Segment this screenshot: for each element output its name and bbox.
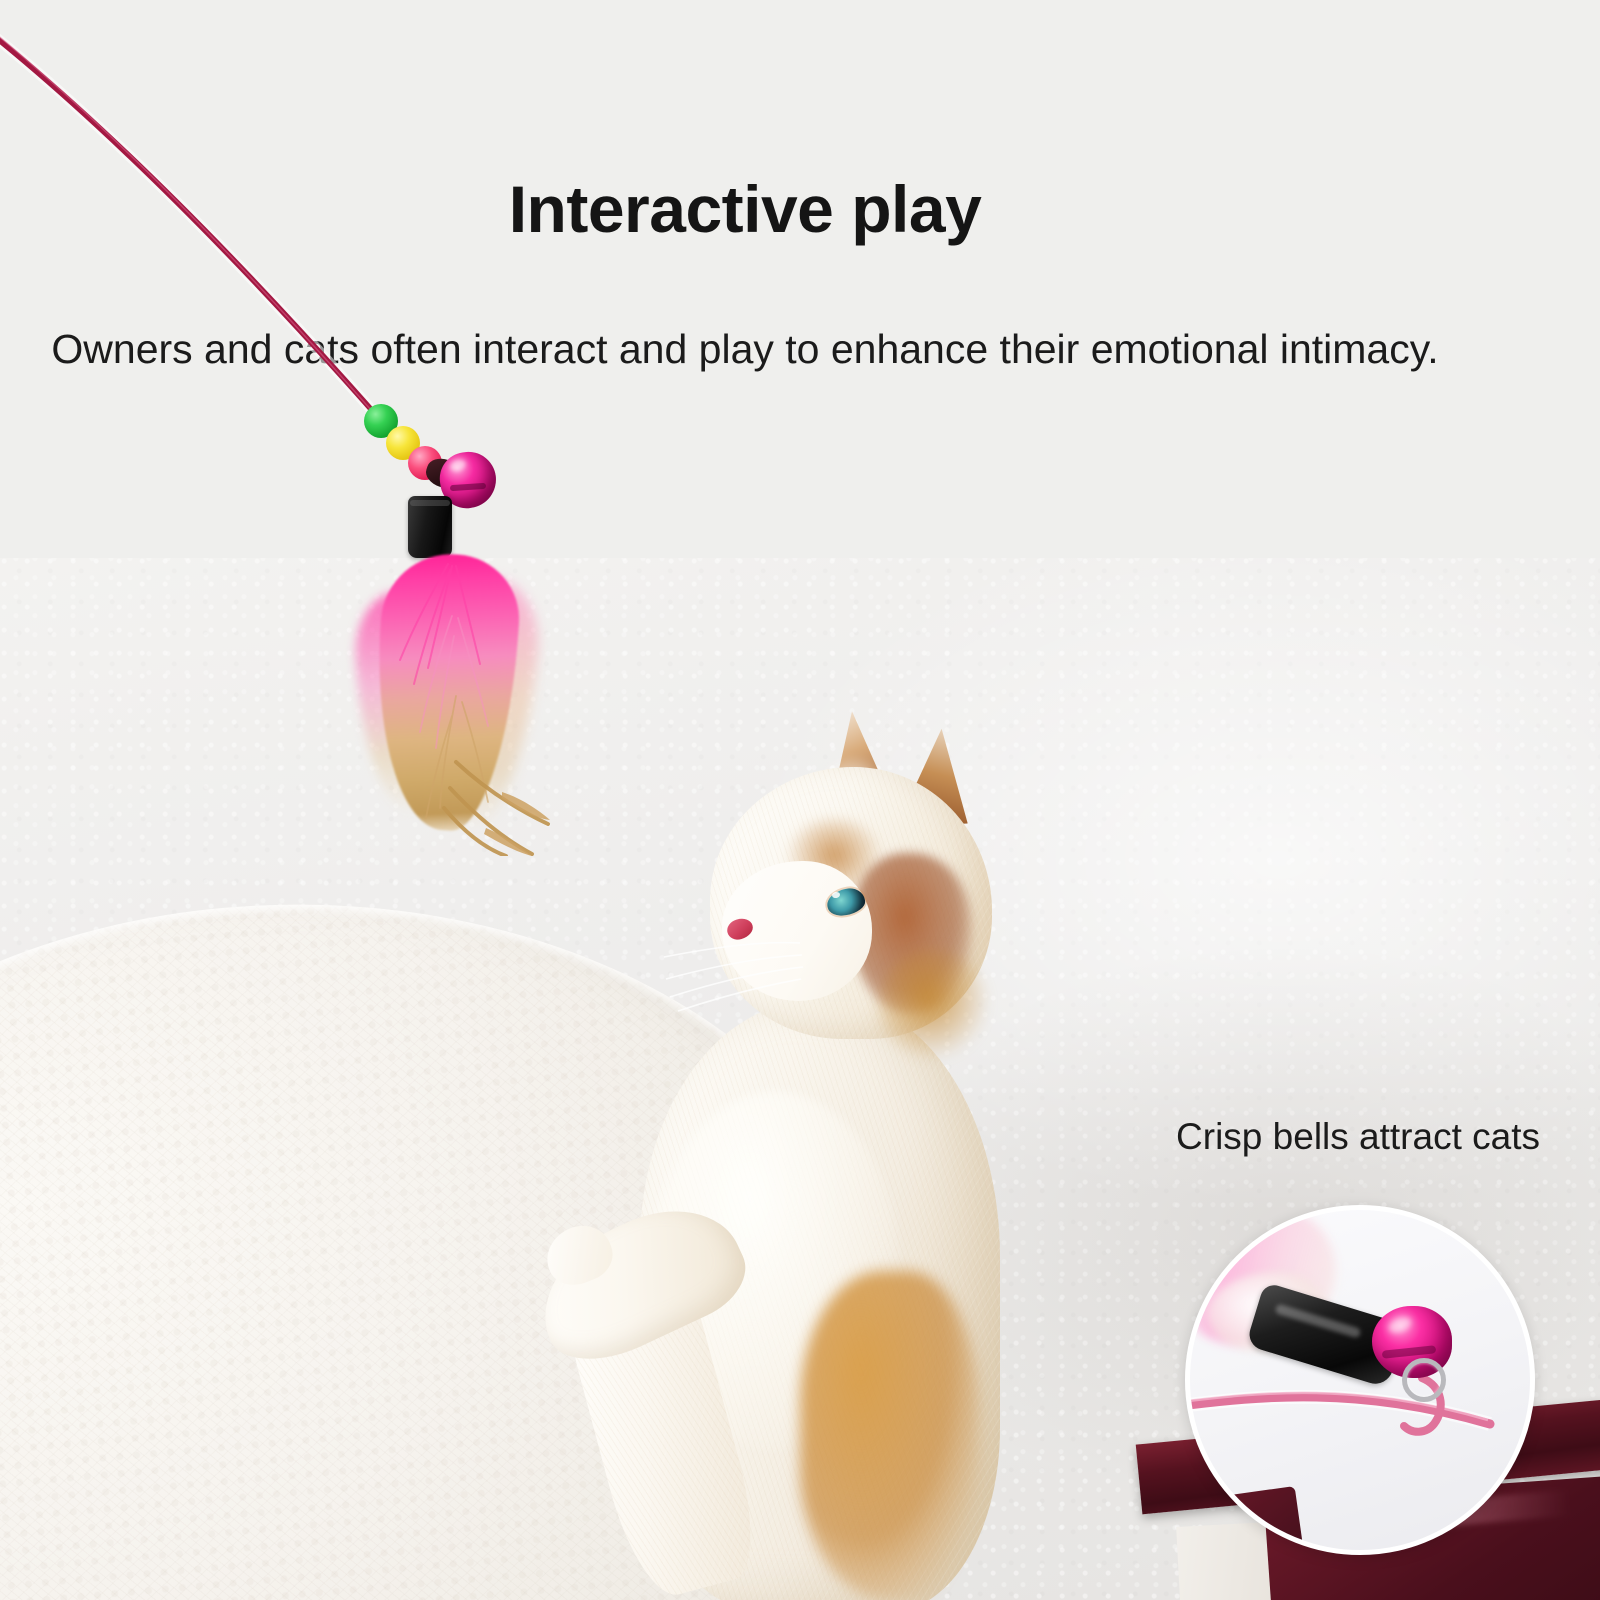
inset-split-ring	[1402, 1358, 1446, 1402]
product-feature-image: Interactive play Owners and cats often i…	[0, 0, 1600, 1600]
detail-inset	[1185, 1205, 1535, 1555]
cat-body-orange-patch	[800, 1271, 980, 1600]
page-subtitle: Owners and cats often interact and play …	[40, 322, 1450, 376]
wand-toy-head	[330, 388, 650, 948]
page-title: Interactive play	[0, 176, 1490, 242]
detail-inset-circle	[1185, 1205, 1535, 1555]
feather-plume	[344, 548, 554, 878]
inset-caption: Crisp bells attract cats	[1120, 1116, 1540, 1158]
feather-cap-band	[410, 500, 450, 506]
cat-cheek-patch	[878, 949, 988, 1059]
header-band	[0, 0, 1600, 558]
